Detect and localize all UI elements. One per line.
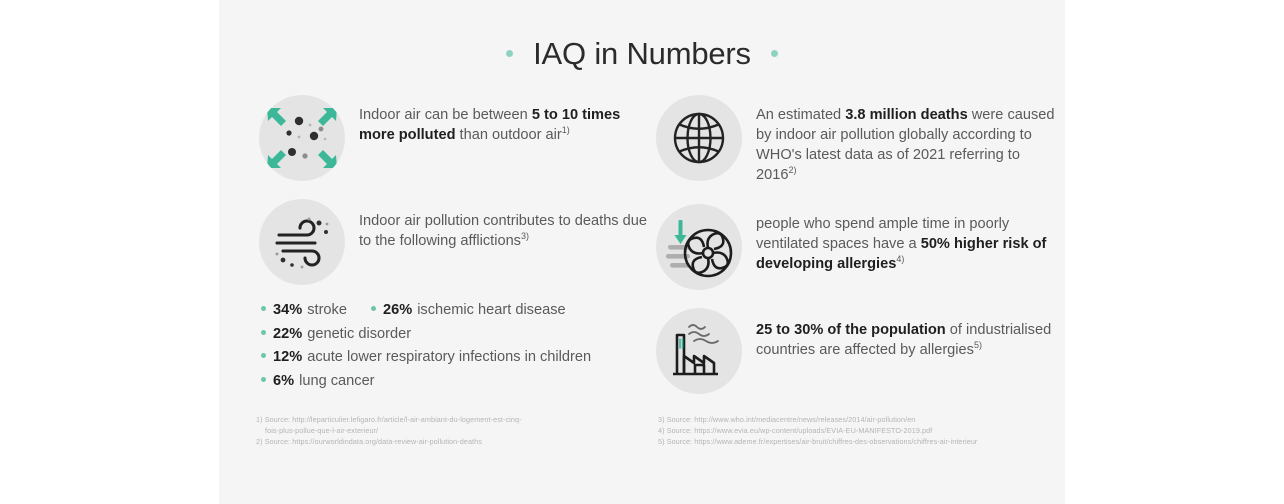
list-item: 22% genetic disorder	[261, 323, 411, 347]
fact5-footnote-ref: 5)	[974, 340, 982, 350]
source-line: 4) Source: https://www.evia.eu/wp-conten…	[658, 425, 1058, 436]
source-line: 2) Source: https://ourworldindata.org/da…	[256, 436, 586, 447]
bullet-dot-icon	[371, 306, 376, 311]
affliction-percent: 12%	[273, 346, 302, 370]
affliction-row-3: 12% acute lower respiratory infections i…	[261, 346, 649, 370]
fact-text-pollution-level: Indoor air can be between 5 to 10 times …	[359, 95, 649, 145]
fact2-plain-1: Indoor air pollution contributes to deat…	[359, 213, 647, 249]
affliction-row-1: 34% stroke 26% ischemic heart disease	[261, 299, 649, 323]
fact-text-global-deaths: An estimated 3.8 million deaths were cau…	[756, 95, 1056, 186]
fact-text-afflictions-intro: Indoor air pollution contributes to deat…	[359, 199, 649, 251]
fact-ventilation-allergy-risk: people who spend ample time in poorly ve…	[656, 204, 1056, 290]
source-line: 5) Source: https://www.ademe.fr/expertis…	[658, 436, 1058, 447]
affliction-percent: 6%	[273, 370, 294, 394]
particles-circle-icon	[259, 95, 345, 181]
fact-afflictions-intro: Indoor air pollution contributes to deat…	[259, 199, 649, 285]
fact5-bold: 25 to 30% of the population	[756, 322, 946, 338]
infographic-page: IAQ in Numbers	[0, 0, 1284, 504]
title-dot-right	[771, 50, 778, 57]
affliction-percent: 34%	[273, 299, 302, 323]
list-item: 6% lung cancer	[261, 370, 375, 394]
list-item: 34% stroke	[261, 299, 347, 323]
source-line: 3) Source: http://www.who.int/mediacentr…	[658, 414, 1058, 425]
sources-left: 1) Source: http://leparticulier.lefigaro…	[256, 414, 586, 447]
affliction-label: acute lower respiratory infections in ch…	[307, 346, 591, 370]
right-column: An estimated 3.8 million deaths were cau…	[656, 95, 1056, 394]
affliction-list: 34% stroke 26% ischemic heart disease 22…	[261, 299, 649, 394]
source-line: fois-plus-pollue-que-l-air-exterieur/	[256, 425, 586, 436]
affliction-label: stroke	[307, 299, 347, 323]
affliction-row-2: 22% genetic disorder	[261, 323, 649, 347]
wind-dust-icon	[259, 199, 345, 285]
source-line: 1) Source: http://leparticulier.lefigaro…	[256, 414, 586, 425]
list-item: 12% acute lower respiratory infections i…	[261, 346, 591, 370]
fact1-plain-2: than outdoor air	[455, 127, 561, 143]
fact-global-deaths: An estimated 3.8 million deaths were cau…	[656, 95, 1056, 186]
fact4-footnote-ref: 4)	[896, 254, 904, 264]
bullet-dot-icon	[261, 306, 266, 311]
fact1-footnote-ref: 1)	[562, 125, 570, 135]
page-title-row: IAQ in Numbers	[219, 38, 1065, 69]
affliction-label: genetic disorder	[307, 323, 411, 347]
bullet-dot-icon	[261, 353, 266, 358]
fact2-footnote-ref: 3)	[521, 231, 529, 241]
title-dot-left	[506, 50, 513, 57]
page-title: IAQ in Numbers	[533, 38, 751, 69]
affliction-label: ischemic heart disease	[417, 299, 565, 323]
globe-icon	[656, 95, 742, 181]
left-column: Indoor air can be between 5 to 10 times …	[259, 95, 649, 394]
affliction-row-4: 6% lung cancer	[261, 370, 649, 394]
factory-icon	[656, 308, 742, 394]
fact1-plain-1: Indoor air can be between	[359, 107, 528, 123]
fact-text-ventilation-allergy-risk: people who spend ample time in poorly ve…	[756, 204, 1056, 274]
fact3-footnote-ref: 2)	[788, 166, 796, 176]
bullet-dot-icon	[261, 330, 266, 335]
affliction-label: lung cancer	[299, 370, 374, 394]
fact-indoor-air-pollution-level: Indoor air can be between 5 to 10 times …	[259, 95, 649, 181]
bullet-dot-icon	[261, 377, 266, 382]
sources-right: 3) Source: http://www.who.int/mediacentr…	[658, 414, 1058, 447]
fan-ventilation-icon	[656, 204, 742, 290]
affliction-percent: 26%	[383, 299, 412, 323]
fact3-bold: 3.8 million deaths	[845, 107, 967, 123]
list-item: 26% ischemic heart disease	[371, 299, 566, 323]
fact3-plain-1: An estimated	[756, 107, 845, 123]
fact-industrialised-allergies: 25 to 30% of the population of industria…	[656, 308, 1056, 394]
fact-text-industrialised-allergies: 25 to 30% of the population of industria…	[756, 308, 1056, 360]
affliction-percent: 22%	[273, 323, 302, 347]
